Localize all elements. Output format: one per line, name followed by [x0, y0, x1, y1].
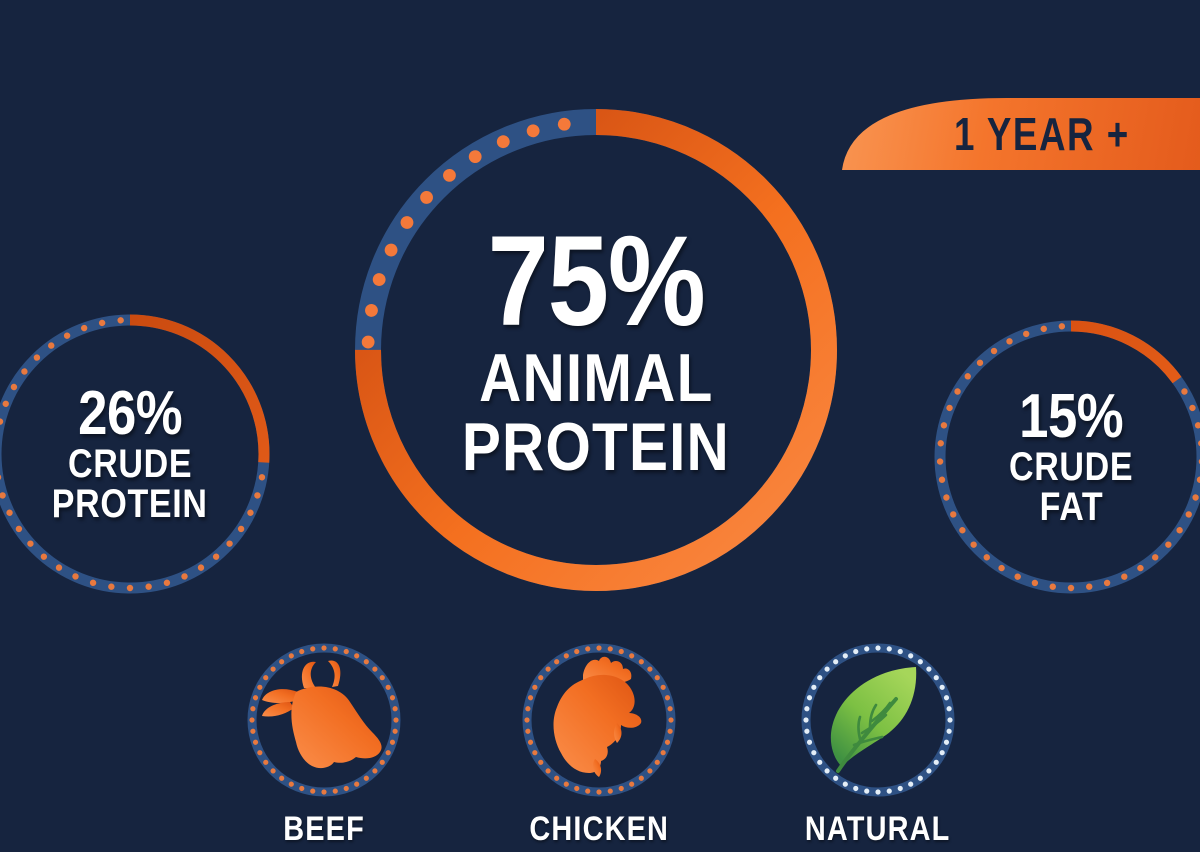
- badge-one-year-plus: 1 YEAR +: [842, 98, 1200, 170]
- donut-chart-crude-protein: 26% CRUDE PROTEIN: [0, 310, 274, 598]
- infographic-canvas: ALL BREEDS 1 YEAR +: [0, 0, 1200, 852]
- leaf-icon: [798, 640, 958, 800]
- natural-ring: [798, 640, 958, 800]
- cow-head-icon: [244, 640, 404, 800]
- badge-one-year-plus-label: 1 YEAR +: [954, 111, 1130, 157]
- ingredient-badge-natural: NATURAL: [792, 640, 964, 849]
- beef-label: BEEF: [283, 810, 365, 849]
- natural-label: NATURAL: [805, 810, 951, 849]
- badge-all-breeds: ALL BREEDS: [742, 4, 1200, 84]
- chicken-label: CHICKEN: [529, 810, 669, 849]
- beef-ring: [244, 640, 404, 800]
- badge-all-breeds-label: ALL BREEDS: [808, 18, 1090, 70]
- ingredient-badge-beef: BEEF: [238, 640, 410, 849]
- rooster-head-icon: [519, 640, 679, 800]
- chicken-ring: [519, 640, 679, 800]
- donut-chart-animal-protein: 75% ANIMAL PROTEIN: [340, 94, 852, 606]
- ingredient-badge-chicken: CHICKEN: [513, 640, 685, 849]
- donut-chart-crude-fat: 15% CRUDE FAT: [930, 316, 1200, 598]
